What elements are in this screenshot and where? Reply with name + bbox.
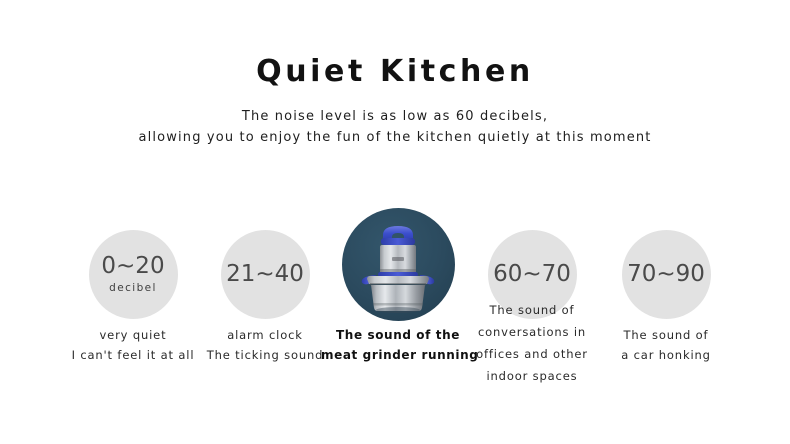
caption: The sound of a car honking <box>587 325 745 365</box>
scale-item-70-90: 70~90 The sound of a car honking <box>587 205 745 365</box>
header: Quiet Kitchen The noise level is as low … <box>0 52 790 148</box>
caption-line: The sound of <box>455 299 609 321</box>
page-title: Quiet Kitchen <box>0 52 790 92</box>
subtitle-line-2: allowing you to enjoy the fun of the kit… <box>0 127 790 148</box>
decibel-bubble: 21~40 <box>221 230 310 319</box>
subtitle: The noise level is as low as 60 decibels… <box>0 106 790 148</box>
decibel-range-label: 60~70 <box>493 262 571 287</box>
meat-grinder-icon <box>342 208 455 321</box>
decibel-range-label: 70~90 <box>627 262 705 287</box>
quiet-kitchen-infographic: Quiet Kitchen The noise level is as low … <box>0 0 790 444</box>
caption-line: a car honking <box>589 345 743 365</box>
caption-line: indoor spaces <box>455 365 609 387</box>
decibel-scale-row: 0~20 decibel very quiet I can't feel it … <box>0 205 790 435</box>
caption-line: offices and other <box>455 343 609 365</box>
product-bubble <box>342 208 455 321</box>
decibel-range-label: 21~40 <box>226 262 304 287</box>
caption-line: The sound of the <box>321 325 475 345</box>
decibel-range-label: 0~20 <box>101 254 164 279</box>
caption-line: meat grinder running <box>321 345 475 365</box>
bubble-holder: 70~90 <box>587 205 745 325</box>
caption-line: The sound of <box>589 325 743 345</box>
caption-line: conversations in <box>455 321 609 343</box>
subtitle-line-1: The noise level is as low as 60 decibels… <box>0 106 790 127</box>
decibel-unit-label: decibel <box>109 280 157 296</box>
decibel-bubble: 70~90 <box>622 230 711 319</box>
decibel-bubble: 0~20 decibel <box>89 230 178 319</box>
